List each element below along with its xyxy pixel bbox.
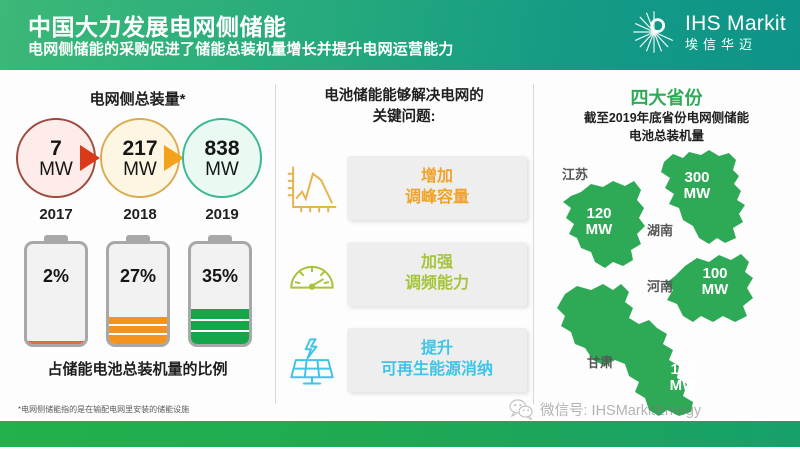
battery-fill-2018: [109, 317, 167, 344]
capacity-panel-title: 电网侧总装量*: [0, 88, 275, 109]
province-value-gansu: 180 MW: [657, 362, 709, 394]
province-value-unit-hunan: MW: [586, 221, 613, 238]
battery-2018: 27%: [106, 235, 170, 347]
brand-logo: IHS Markit 埃信华迈: [631, 9, 786, 55]
province-value-unit-jiangsu: MW: [684, 185, 711, 202]
year-label-2019: 2019: [182, 206, 262, 223]
benefit-line2-renewable-integration: 可再生能源消纳: [381, 360, 493, 381]
wechat-handle: 微信号: IHSMarkitEnergy: [508, 398, 701, 420]
benefit-line2-peak-shaving: 调峰容量: [405, 188, 469, 209]
footer-bar: [0, 421, 800, 447]
province-value-hunan: 120 MW: [573, 206, 625, 238]
battery-body: 35%: [188, 241, 252, 347]
battery-percent-2018: 27%: [109, 266, 167, 287]
province-value-unit-henan: MW: [702, 281, 729, 298]
province-name-gansu: 甘肃: [587, 352, 613, 371]
province-value-henan: 100 MW: [689, 266, 741, 298]
page-subtitle: 电网侧储能的采购促进了储能总装机量增长并提升电网运营能力: [28, 38, 454, 59]
battery-2019: 35%: [188, 235, 252, 347]
ihs-markit-sunburst-icon: [631, 9, 677, 55]
capacity-value-2018: 217: [122, 138, 157, 159]
line-chart-icon: [285, 162, 339, 216]
battery-fill-segment: [191, 321, 249, 333]
province-value-number-jiangsu: 300: [684, 169, 709, 186]
province-panel-subtitle: 截至2019年底省份电网侧储能 电池总装机量: [541, 110, 792, 145]
capacity-unit-2017: MW: [39, 160, 73, 179]
battery-fill-2019: [191, 309, 249, 344]
benefit-line1-renewable-integration: 提升: [421, 339, 453, 360]
benefits-panel: 电池储能能够解决电网的 关键问题:: [275, 70, 533, 418]
battery-percent-2019: 35%: [191, 266, 249, 287]
province-value-number-henan: 100: [702, 265, 727, 282]
benefits-panel-title: 电池储能能够解决电网的 关键问题:: [285, 86, 523, 128]
wechat-icon: [508, 398, 534, 420]
battery-fill-2017: [27, 341, 85, 344]
footnote-text: *电网侧储能指的是在输配电网里安装的储能设施: [18, 404, 189, 415]
province-value-number-hunan: 120: [586, 205, 611, 222]
arrow-2018-to-2019-icon: [164, 145, 184, 171]
capacity-circle-group: 7 MW 217 MW 838 MW: [14, 118, 264, 204]
province-subtitle-line1: 截至2019年底省份电网侧储能: [541, 110, 792, 128]
battery-fill-segment: [27, 341, 85, 344]
benefit-item-renewable-integration: 提升 可再生能源消纳: [281, 328, 531, 394]
battery-fill-segment: [109, 317, 167, 326]
battery-body: 27%: [106, 241, 170, 347]
province-shape-gansu: [557, 284, 693, 416]
battery-body: 2%: [24, 241, 88, 347]
benefit-item-peak-shaving: 增加 调峰容量: [281, 156, 531, 222]
benefit-label-box-frequency-regulation: 加强 调频能力: [347, 242, 527, 306]
solar-panel-icon: [285, 334, 339, 388]
arrow-2017-to-2018-icon: [80, 145, 100, 171]
page-title: 中国大力发展电网侧储能: [28, 8, 287, 42]
province-value-number-gansu: 180: [670, 361, 695, 378]
benefits-title-line1: 电池储能能够解决电网的: [285, 86, 523, 107]
province-name-hunan: 湖南: [647, 220, 673, 239]
battery-caption: 占储能电池总装机量的比例: [0, 358, 275, 379]
benefits-title-line2: 关键问题:: [285, 107, 523, 128]
china-province-map: 江苏 300 MW 湖南 120 MW 河南 100 MW 甘肃 180: [533, 148, 800, 416]
battery-fill-segment: [109, 335, 167, 344]
battery-fill-segment: [191, 332, 249, 344]
province-map-panel: 四大省份 截至2019年底省份电网侧储能 电池总装机量 江苏: [533, 70, 800, 418]
benefit-line1-peak-shaving: 增加: [421, 167, 453, 188]
benefit-line2-frequency-regulation: 调频能力: [405, 274, 469, 295]
battery-fill-segment: [109, 326, 167, 335]
capacity-unit-2019: MW: [205, 160, 239, 179]
benefit-line1-frequency-regulation: 加强: [421, 253, 453, 274]
battery-fill-segment: [191, 309, 249, 321]
province-subtitle-line2: 电池总装机量: [541, 128, 792, 146]
footer-padding: [0, 447, 800, 453]
brand-wordmark: IHS Markit 埃信华迈: [685, 13, 786, 52]
province-value-jiangsu: 300 MW: [671, 170, 723, 202]
capacity-panel: 电网侧总装量* 7 MW 217 MW 838 MW 2017: [0, 70, 275, 418]
year-label-group: 2017 2018 2019: [14, 206, 264, 226]
capacity-value-2019: 838: [204, 138, 239, 159]
benefit-item-frequency-regulation: 加强 调频能力: [281, 242, 531, 308]
benefit-label-box-renewable-integration: 提升 可再生能源消纳: [347, 328, 527, 392]
year-label-2018: 2018: [100, 206, 180, 223]
battery-2017: 2%: [24, 235, 88, 347]
gauge-icon: [285, 248, 339, 302]
capacity-circle-2019: 838 MW: [182, 118, 262, 198]
header-banner: 中国大力发展电网侧储能 电网侧储能的采购促进了储能总装机量增长并提升电网运营能力: [0, 0, 800, 70]
brand-name-cn: 埃信华迈: [685, 38, 786, 52]
content-area: 电网侧总装量* 7 MW 217 MW 838 MW 2017: [0, 70, 800, 418]
capacity-value-2017: 7: [50, 138, 62, 159]
infographic-root: 中国大力发展电网侧储能 电网侧储能的采购促进了储能总装机量增长并提升电网运营能力: [0, 0, 800, 453]
province-name-jiangsu: 江苏: [562, 164, 588, 183]
battery-group: 2% 27% 35%: [14, 235, 264, 347]
wechat-label: 微信号: IHSMarkitEnergy: [540, 399, 701, 420]
province-value-unit-gansu: MW: [670, 377, 697, 394]
battery-percent-2017: 2%: [27, 266, 85, 287]
year-label-2017: 2017: [16, 206, 96, 223]
province-panel-title: 四大省份: [533, 84, 800, 110]
province-name-henan: 河南: [647, 276, 673, 295]
brand-name-en: IHS Markit: [685, 13, 786, 35]
benefit-label-box-peak-shaving: 增加 调峰容量: [347, 156, 527, 220]
capacity-unit-2018: MW: [123, 160, 157, 179]
